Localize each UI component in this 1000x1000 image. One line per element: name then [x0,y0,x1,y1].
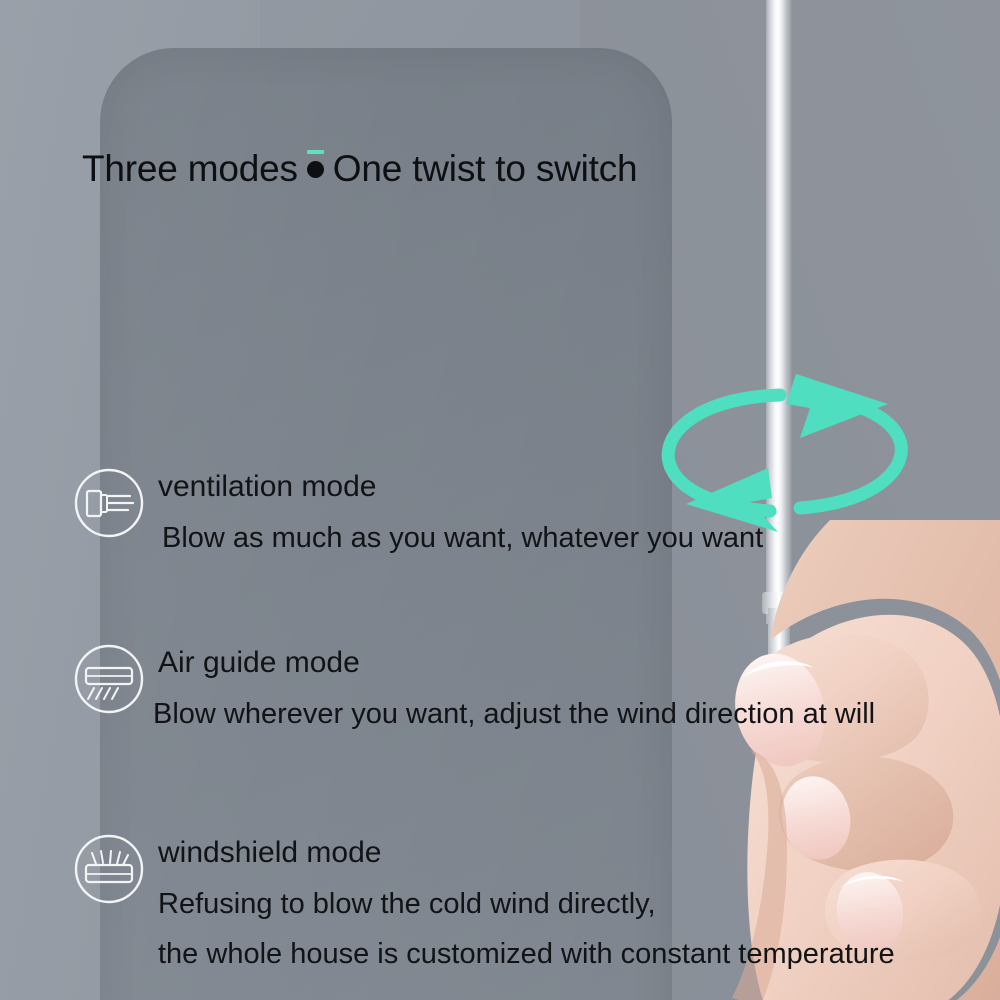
mode-description-line-2: the whole house is customized with const… [158,940,895,969]
blower-fan-icon [72,466,146,540]
product-feature-image: Three modesOne twist to switch ventilati… [0,0,1000,1000]
mode-description-line-1: Refusing to blow the cold wind directly, [158,890,656,919]
page-title: Three modesOne twist to switch [82,150,682,187]
headline-left: Three modes [82,148,298,189]
hand-gripping-rod-icon [620,520,1000,1000]
headline-right: One twist to switch [333,148,638,189]
mode-title: ventilation mode [158,472,376,502]
mode-description: Blow wherever you want, adjust the wind … [153,700,875,729]
bullet-dot-icon [307,161,324,178]
mode-title: windshield mode [158,838,381,868]
air-conditioner-upflow-icon [72,832,146,906]
air-conditioner-downflow-icon [72,642,146,716]
mode-description: Blow as much as you want, whatever you w… [162,524,763,553]
mode-title: Air guide mode [158,648,360,678]
